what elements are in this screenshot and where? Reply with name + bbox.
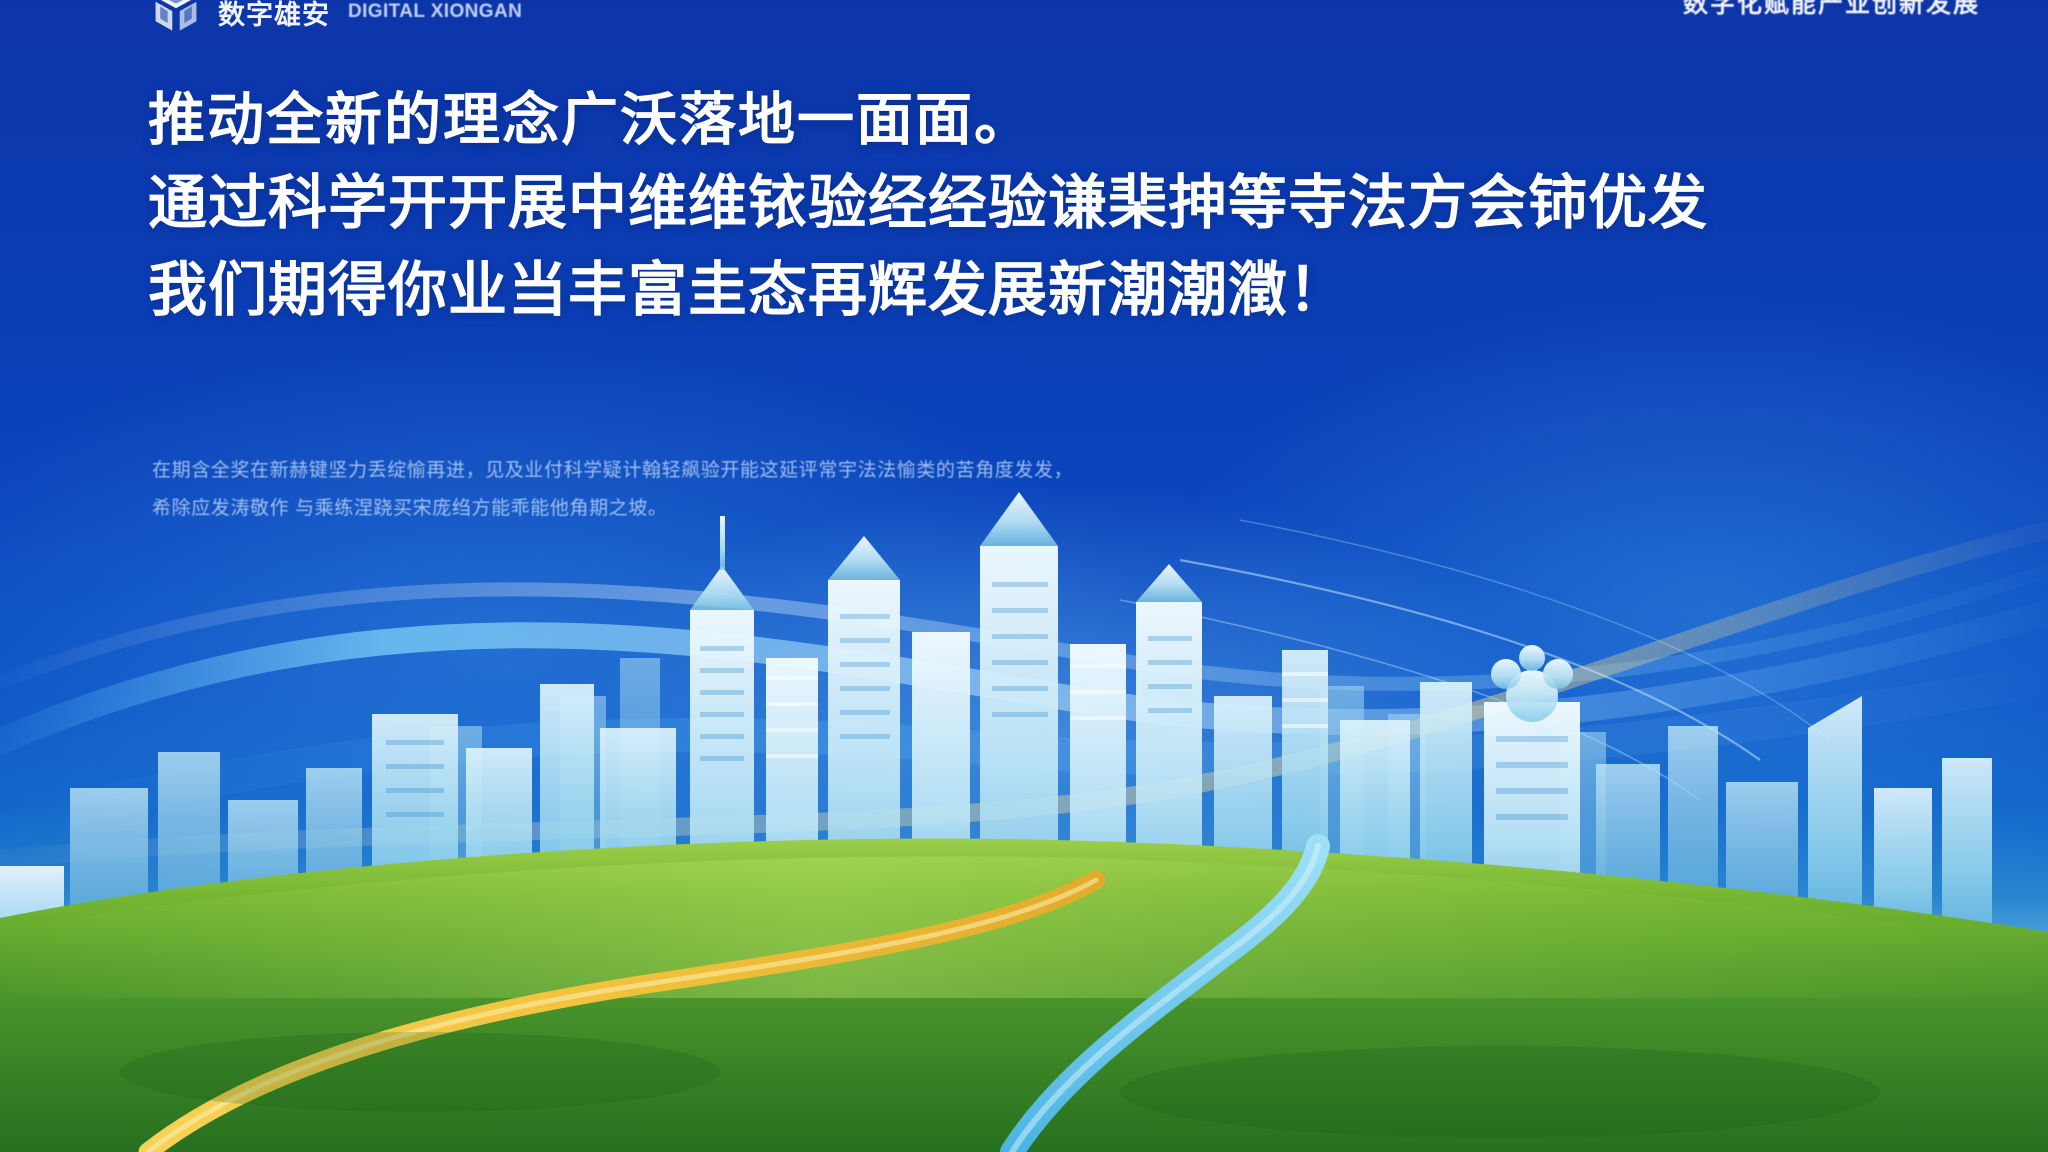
- brand-name-cn: 数字雄安: [218, 0, 330, 32]
- headline-line-3: 我们期得你业当丰富圭态再辉发展新潮潮瀓！: [148, 251, 1928, 331]
- cube-lattice-logo-icon: [148, 0, 204, 38]
- headline-block: 推动全新的理念广沃落地一面面。 通过科学开开展中维维铱验经经验谦棐抻等寺法方会铈…: [148, 86, 1928, 331]
- hero-banner: 数字雄安 DIGITAL XIONGAN 数字化赋能产业创新发展 推动全新的理念…: [0, 0, 2048, 1152]
- headline-line-2: 通过科学开开展中维维铱验经经验谦棐抻等寺法方会铈优发: [148, 164, 1928, 244]
- headline-line-1: 推动全新的理念广沃落地一面面。: [148, 86, 1928, 156]
- top-bar: 数字雄安 DIGITAL XIONGAN 数字化赋能产业创新发展: [0, 0, 2048, 34]
- top-tagline: 数字化赋能产业创新发展: [1683, 0, 1980, 20]
- brand-lockup[interactable]: 数字雄安 DIGITAL XIONGAN: [148, 0, 522, 38]
- green-grass-hill: [0, 822, 2048, 1152]
- brand-name-en: DIGITAL XIONGAN: [348, 1, 522, 23]
